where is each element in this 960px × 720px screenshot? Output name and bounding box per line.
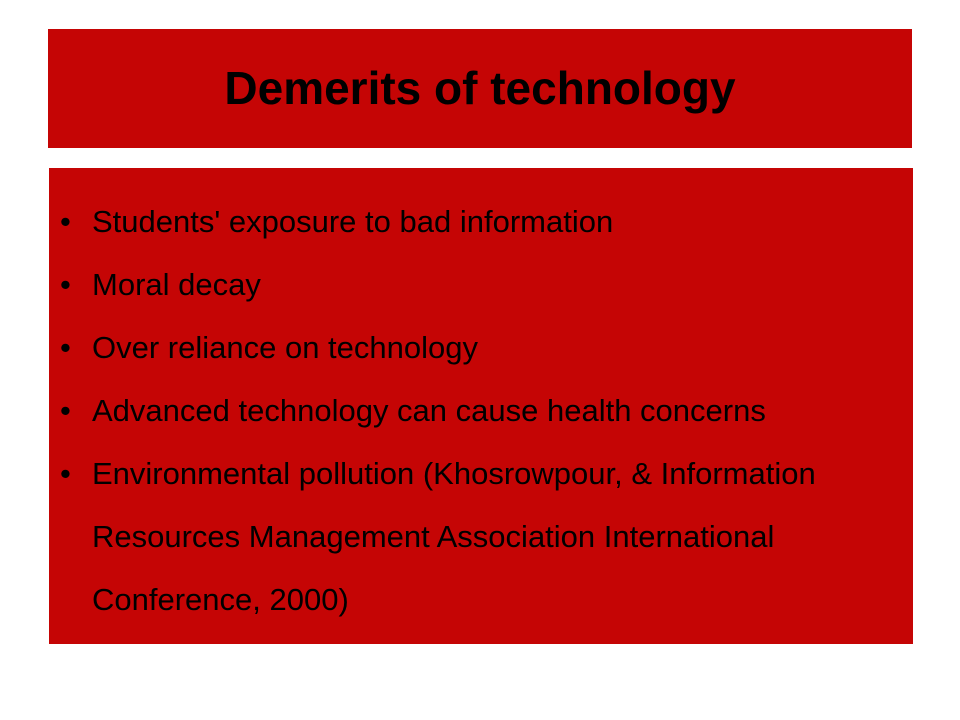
list-item-text: Environmental pollution (Khosrowpour, & …	[92, 442, 913, 505]
list-item-text: Advanced technology can cause health con…	[92, 379, 913, 442]
bullet-point-icon: •	[60, 190, 74, 253]
bullet-point-icon: •	[60, 253, 74, 316]
bullet-point-icon: •	[60, 442, 74, 505]
bullet-point-icon: •	[60, 379, 74, 442]
title-panel: Demerits of technology	[48, 29, 912, 148]
list-item: •Environmental pollution (Khosrowpour, &…	[49, 442, 913, 631]
list-item-text: Students' exposure to bad information	[92, 190, 913, 253]
page-title: Demerits of technology	[224, 64, 735, 112]
list-item-text: Over reliance on technology	[92, 316, 913, 379]
list-item: •Advanced technology can cause health co…	[49, 379, 913, 442]
list-item-text: Conference, 2000)	[92, 568, 913, 631]
list-item-text: Moral decay	[92, 253, 913, 316]
content-panel: •Students' exposure to bad information•M…	[49, 168, 913, 644]
list-item-text: Resources Management Association Interna…	[92, 505, 913, 568]
slide-canvas: Demerits of technology •Students' exposu…	[0, 0, 960, 720]
list-item: •Students' exposure to bad information	[49, 190, 913, 253]
bullet-point-icon: •	[60, 316, 74, 379]
list-item: •Moral decay	[49, 253, 913, 316]
list-item: •Over reliance on technology	[49, 316, 913, 379]
bullet-list: •Students' exposure to bad information•M…	[49, 190, 913, 631]
